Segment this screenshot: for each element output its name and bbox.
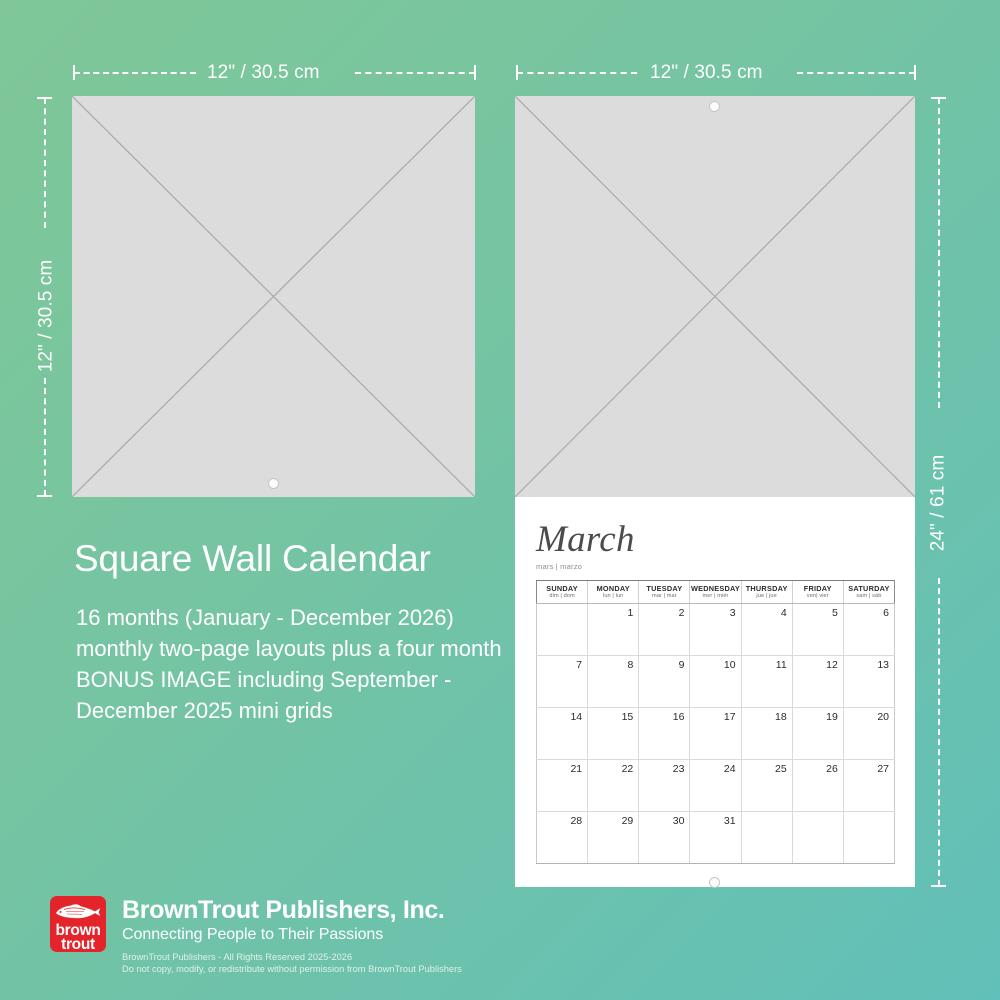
day-name: THURSDAY [742, 584, 792, 593]
calendar-day-cell: 21 [537, 760, 588, 812]
calendar-day-header-tuesday: TUESDAY mar | mar [639, 581, 690, 604]
product-description: 16 months (January - December 2026) mont… [76, 602, 526, 726]
dimension-line [517, 72, 637, 74]
punch-hole-right-page-top [709, 101, 720, 112]
calendar-day-cell: 20 [843, 708, 894, 760]
calendar-day-cell: 14 [537, 708, 588, 760]
day-name: TUESDAY [639, 584, 689, 593]
footer-branding: brown trout BrownTrout Publishers, Inc. … [50, 896, 462, 975]
product-title: Square Wall Calendar [74, 538, 431, 580]
calendar-day-cell: 31 [690, 812, 741, 864]
calendar-table: SUNDAY dim | dom MONDAY lun | lun TUESDA… [536, 580, 895, 864]
dimension-end-cap [73, 65, 75, 80]
day-name-translated: lun | lun [588, 593, 638, 600]
calendar-day-cell: 9 [639, 656, 690, 708]
calendar-week-row: 14 15 16 17 18 19 20 [537, 708, 895, 760]
dimension-line [938, 98, 940, 408]
calendar-month-title: March [536, 521, 895, 558]
dimension-line [44, 378, 46, 496]
calendar-day-cell: 27 [843, 760, 894, 812]
dimension-label-height-right: 24" / 61 cm [927, 455, 949, 552]
day-name: SATURDAY [844, 584, 894, 593]
calendar-day-cell: 24 [690, 760, 741, 812]
day-name-translated: ven| vier [793, 593, 843, 600]
dimension-end-cap [516, 65, 518, 80]
calendar-day-cell: 23 [639, 760, 690, 812]
calendar-day-cell [792, 812, 843, 864]
day-name: WEDNESDAY [690, 584, 740, 593]
calendar-day-cell: 1 [588, 604, 639, 656]
trout-fish-icon [54, 902, 102, 922]
calendar-week-row: 28 29 30 31 [537, 812, 895, 864]
day-name: FRIDAY [793, 584, 843, 593]
dimension-end-cap [931, 885, 946, 887]
calendar-day-cell: 29 [588, 812, 639, 864]
calendar-header-row: SUNDAY dim | dom MONDAY lun | lun TUESDA… [537, 581, 895, 604]
day-name-translated: mar | mar [639, 593, 689, 600]
calendar-day-cell [741, 812, 792, 864]
calendar-week-row: 21 22 23 24 25 26 27 [537, 760, 895, 812]
punch-hole-left-page [268, 478, 279, 489]
calendar-day-cell: 12 [792, 656, 843, 708]
legal-line-2: Do not copy, modify, or redistribute wit… [122, 963, 462, 975]
day-name-translated: jue | jue [742, 593, 792, 600]
placeholder-x-cross [72, 96, 475, 497]
dimension-line [938, 578, 940, 886]
company-name: BrownTrout Publishers, Inc. [122, 897, 462, 923]
dimension-line [74, 72, 196, 74]
calendar-day-cell: 7 [537, 656, 588, 708]
calendar-day-header-saturday: SATURDAY sam | sáb [843, 581, 894, 604]
dimension-line [44, 98, 46, 228]
calendar-day-cell: 26 [792, 760, 843, 812]
calendar-day-cell: 3 [690, 604, 741, 656]
dimension-label-width-left: 12" / 30.5 cm [207, 62, 320, 84]
calendar-day-cell: 22 [588, 760, 639, 812]
calendar-day-header-sunday: SUNDAY dim | dom [537, 581, 588, 604]
calendar-grid-page: March mars | marzo SUNDAY dim | dom MOND… [515, 497, 915, 887]
calendar-content: March mars | marzo SUNDAY dim | dom MOND… [536, 521, 895, 859]
calendar-day-cell: 30 [639, 812, 690, 864]
calendar-day-cell: 13 [843, 656, 894, 708]
calendar-day-cell [843, 812, 894, 864]
calendar-day-header-monday: MONDAY lun | lun [588, 581, 639, 604]
day-name-translated: sam | sáb [844, 593, 894, 600]
browntrout-logo: brown trout [50, 896, 106, 952]
calendar-month-translations: mars | marzo [536, 562, 895, 571]
dimension-end-cap [474, 65, 476, 80]
legal-notice: BrownTrout Publishers - All Rights Reser… [122, 951, 462, 975]
day-name: SUNDAY [537, 584, 587, 593]
calendar-day-cell: 4 [741, 604, 792, 656]
day-name: MONDAY [588, 584, 638, 593]
dimension-line [355, 72, 475, 74]
calendar-day-header-thursday: THURSDAY jue | jue [741, 581, 792, 604]
dimension-end-cap [37, 495, 52, 497]
dimension-label-height-left: 12" / 30.5 cm [35, 260, 57, 373]
calendar-day-cell: 10 [690, 656, 741, 708]
logo-word-trout: trout [50, 937, 106, 952]
calendar-week-row: 1 2 3 4 5 6 [537, 604, 895, 656]
calendar-day-header-friday: FRIDAY ven| vier [792, 581, 843, 604]
calendar-day-cell: 19 [792, 708, 843, 760]
calendar-day-cell: 11 [741, 656, 792, 708]
dimension-end-cap [931, 97, 946, 99]
placeholder-x-cross [515, 96, 915, 497]
dimension-end-cap [37, 97, 52, 99]
dimension-label-width-right: 12" / 30.5 cm [650, 62, 763, 84]
calendar-day-cell: 28 [537, 812, 588, 864]
calendar-day-cell: 17 [690, 708, 741, 760]
calendar-right-page-image [515, 96, 915, 497]
calendar-day-cell: 25 [741, 760, 792, 812]
company-tagline: Connecting People to Their Passions [122, 926, 462, 944]
calendar-day-header-wednesday: WEDNESDAY mer | miér [690, 581, 741, 604]
calendar-day-cell: 6 [843, 604, 894, 656]
calendar-day-cell: 8 [588, 656, 639, 708]
calendar-day-cell: 18 [741, 708, 792, 760]
calendar-day-cell: 5 [792, 604, 843, 656]
punch-hole-right-page-bottom [709, 877, 720, 888]
calendar-day-cell [537, 604, 588, 656]
calendar-day-cell: 15 [588, 708, 639, 760]
calendar-day-cell: 2 [639, 604, 690, 656]
calendar-day-cell: 16 [639, 708, 690, 760]
dimension-line [797, 72, 915, 74]
day-name-translated: mer | miér [690, 593, 740, 600]
footer-text-block: BrownTrout Publishers, Inc. Connecting P… [122, 896, 462, 975]
calendar-week-row: 7 8 9 10 11 12 13 [537, 656, 895, 708]
calendar-left-page-preview [72, 96, 475, 497]
day-name-translated: dim | dom [537, 593, 587, 600]
dimension-end-cap [914, 65, 916, 80]
legal-line-1: BrownTrout Publishers - All Rights Reser… [122, 951, 462, 963]
